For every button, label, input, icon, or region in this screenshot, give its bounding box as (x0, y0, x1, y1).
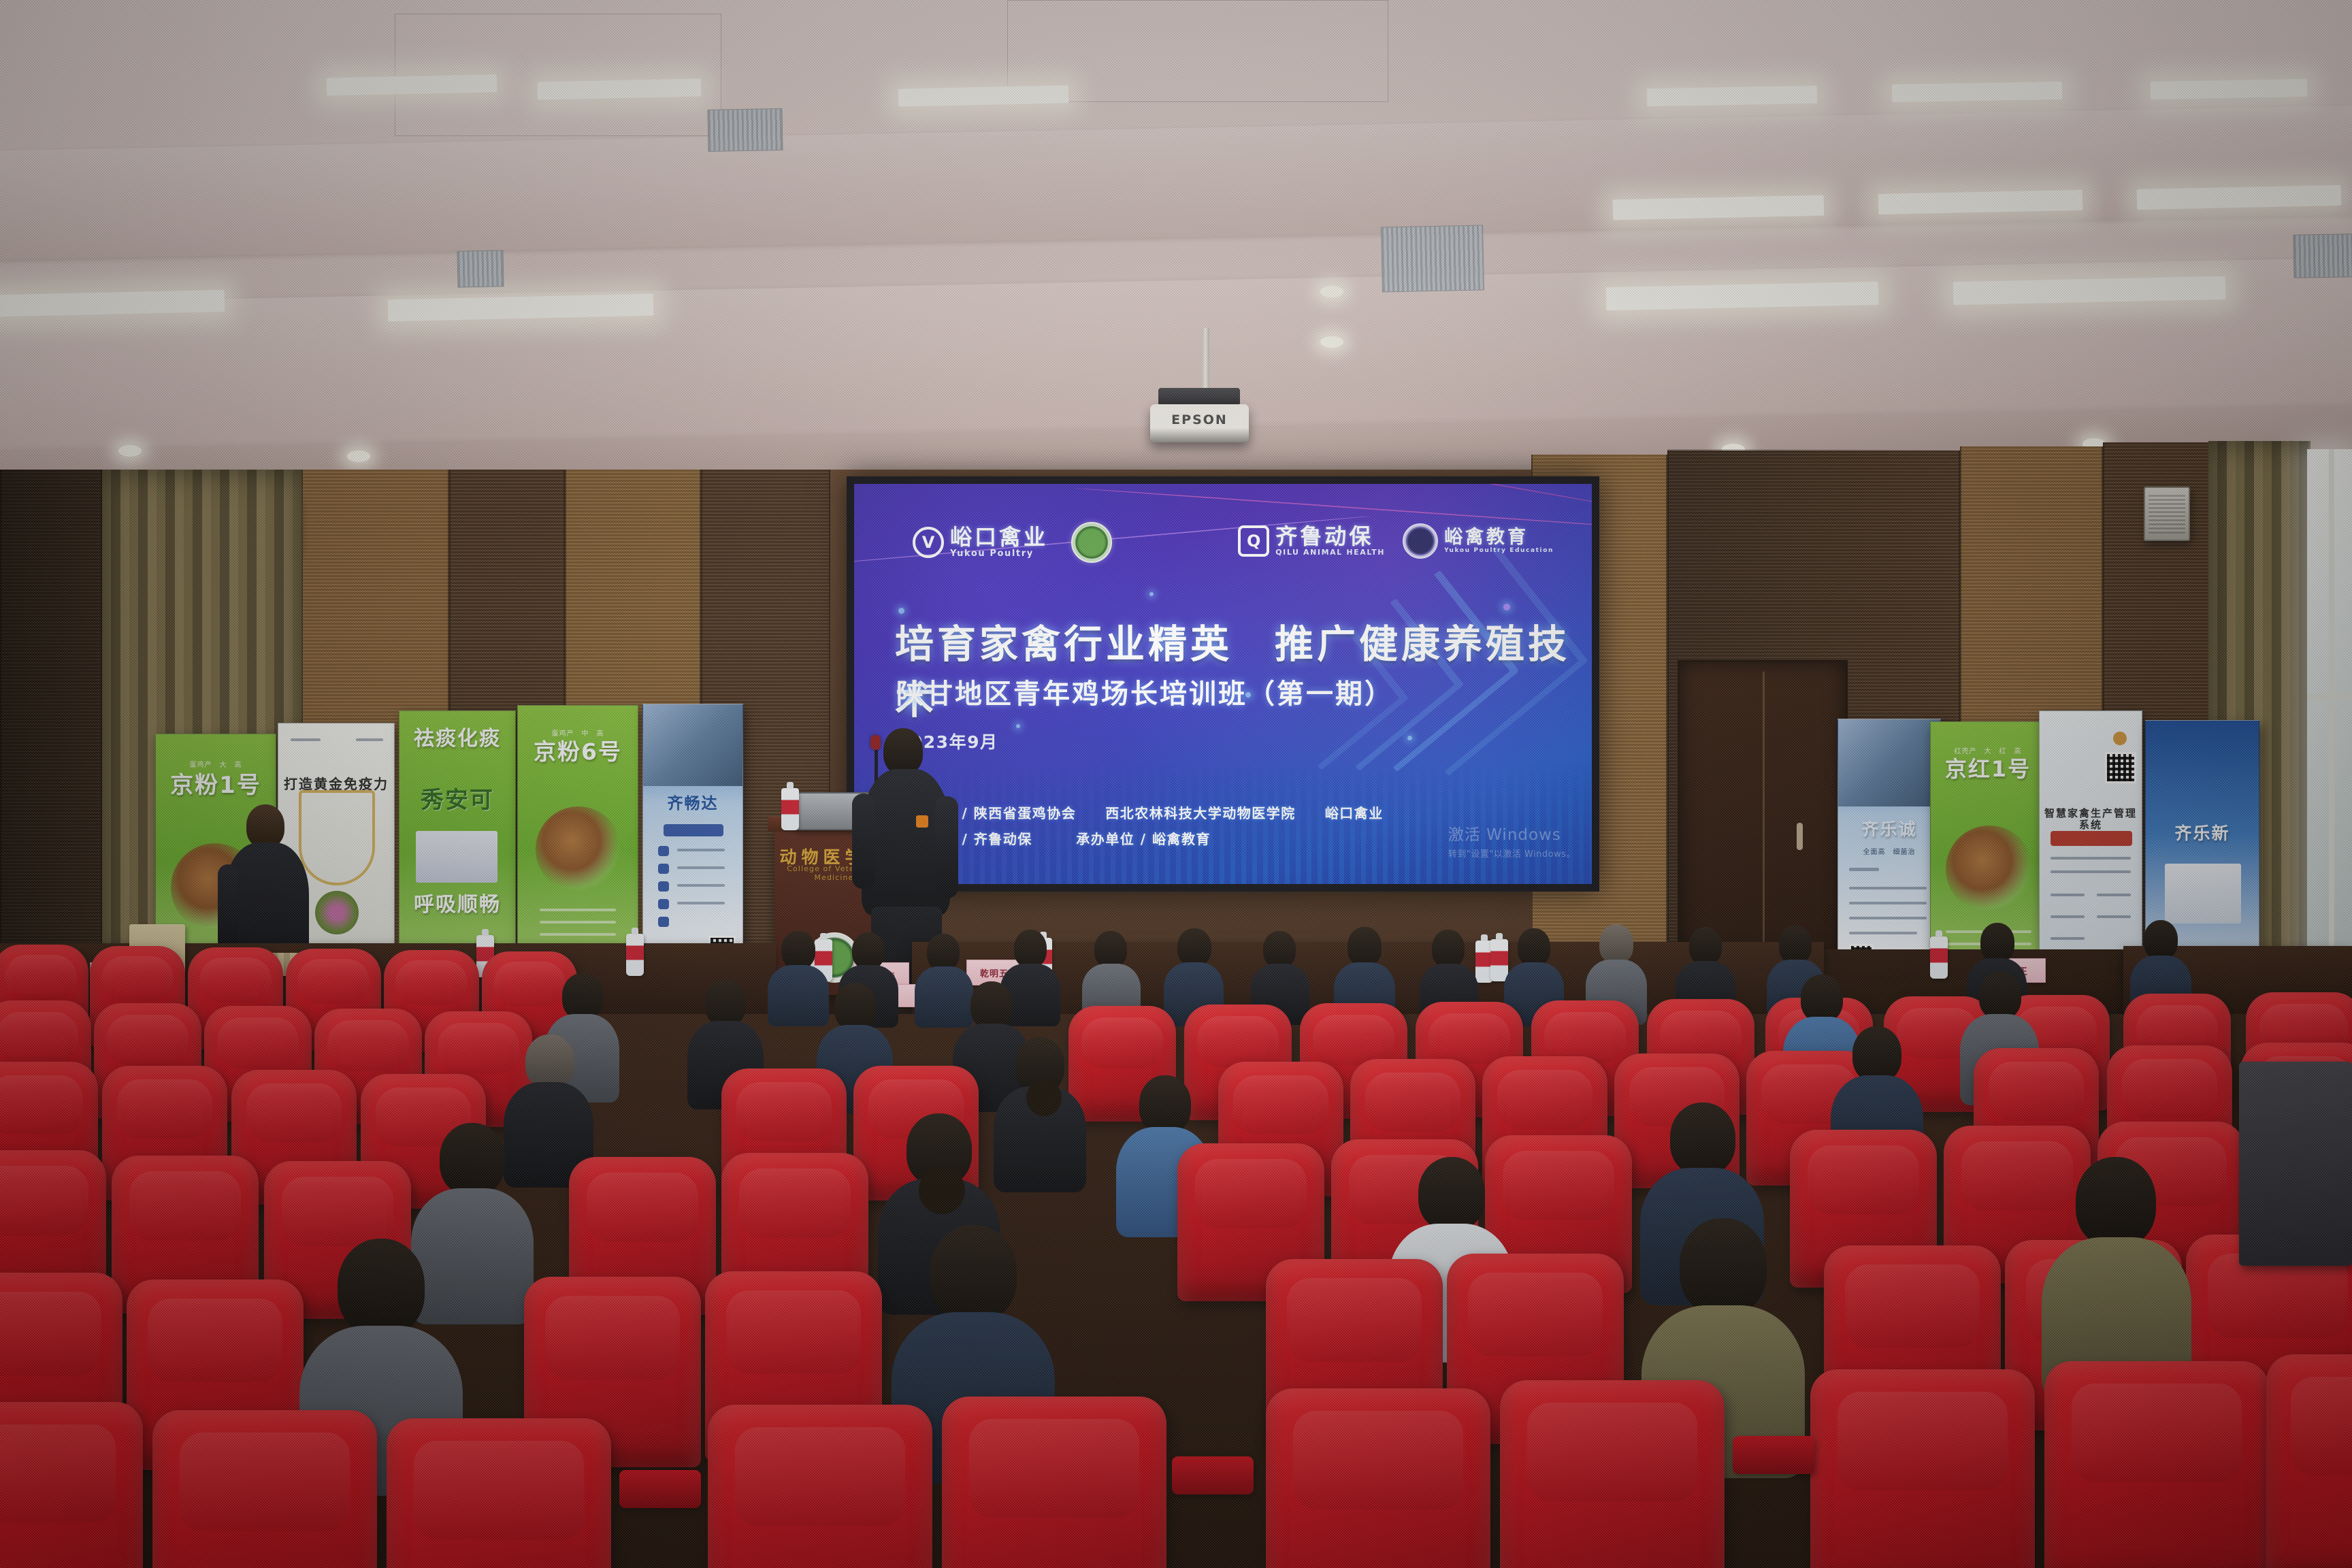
slide-subtitle: 陕甘地区青年鸡场长培训班（第一期） (896, 672, 1394, 711)
yukou-education-seal-icon (1403, 523, 1438, 559)
banner-title: 齐乐新 (2146, 824, 2259, 843)
watermark-line-1: 激活 Windows (1448, 821, 1575, 845)
seat-armrest (1733, 1436, 1814, 1474)
logo-label-en: Yukou Poultry Education (1444, 547, 1554, 554)
auditorium-seat[interactable] (708, 1405, 932, 1568)
audience-head (1670, 1102, 1735, 1175)
logo-yukou-education: 峪禽教育 Yukou Poultry Education (1403, 523, 1554, 559)
slide-logo-row-right: Q 齐鲁动保 QILU ANIMAL HEALTH 峪禽教育 Yukou Pou… (1238, 523, 1554, 559)
audience-head (562, 973, 603, 1019)
qilu-mark-icon: Q (1238, 525, 1269, 557)
audience-member (2042, 1157, 2191, 1388)
banner-ribbon (2051, 831, 2132, 846)
banner-title: 智慧家禽生产管理系统 (2040, 808, 2142, 831)
logo-label-en: QILU ANIMAL HEALTH (1275, 548, 1385, 557)
staff-head (246, 804, 284, 848)
banner-title: 齐乐诚 (1838, 820, 1940, 839)
auditorium-seat[interactable] (387, 1418, 611, 1568)
watermark-line-2: 转到"设置"以激活 Windows。 (1448, 847, 1575, 860)
audience-member (994, 1037, 1086, 1184)
audience-head (2144, 920, 2178, 960)
water-bottle[interactable] (626, 934, 644, 976)
banner-text-line (2097, 915, 2131, 918)
ceiling-light-panel (898, 85, 1068, 106)
banner-badge (658, 917, 669, 927)
audience-head (2076, 1157, 2156, 1247)
door-seam (1763, 672, 1765, 962)
audience-head (1689, 927, 1722, 965)
ac-vent (707, 108, 783, 152)
banner-badge (658, 846, 669, 856)
particle-dot (1149, 592, 1154, 596)
auditorium-seat[interactable] (2044, 1361, 2269, 1568)
projector-mount-pole (1202, 328, 1209, 393)
auditorium-seat[interactable] (1266, 1388, 1490, 1568)
banner-text-line (2051, 857, 2131, 860)
banner-title-3: 呼吸顺畅 (399, 894, 515, 917)
banner-subtitle: 全面高 细菌治 (1838, 846, 1940, 856)
auditorium-seat[interactable] (942, 1396, 1166, 1568)
banner-title: 京粉6号 (518, 740, 638, 765)
audience-head (1418, 1157, 1485, 1230)
audience-head (1979, 972, 2021, 1019)
audience-head (1680, 1218, 1767, 1315)
ceiling-downlight (347, 451, 370, 462)
ceiling-band-upper (0, 105, 2352, 260)
audience-head (1852, 1026, 1901, 1082)
banner-qichangda: 齐畅达 (642, 704, 743, 970)
audience-head (930, 1225, 1017, 1322)
logo-label-cn: 峪禽教育 (1444, 528, 1554, 547)
ceiling-light-panel (2137, 185, 2342, 210)
logo-qilu-animal-health: Q 齐鲁动保 QILU ANIMAL HEALTH (1238, 525, 1385, 557)
ceiling-downlight (1320, 336, 1343, 348)
ceiling-light-panel (1647, 86, 1817, 106)
hair-bun (1026, 1079, 1062, 1116)
ceiling-light-panel (2151, 79, 2307, 99)
ceiling-light-panel (327, 74, 497, 95)
flower-illustration (315, 891, 359, 934)
banner-subtitle: 蛋鸡产 中 高 (518, 728, 638, 738)
banner-product-card (2165, 864, 2241, 924)
banner-text-line (1849, 868, 1879, 871)
banner-badge (658, 881, 669, 892)
banner-title: 京红1号 (1931, 757, 2045, 782)
banner-title-2: 秀安可 (399, 787, 515, 813)
wall-speaker-right (2144, 487, 2190, 541)
logo-yukou-poultry: V 峪口禽业 Yukou Poultry (913, 526, 1048, 559)
audience-head (1139, 1075, 1191, 1134)
logo-label-en: Yukou Poultry (950, 549, 1048, 559)
water-bottle[interactable] (1930, 936, 1948, 979)
door-handle[interactable] (1797, 823, 1803, 850)
audience-head (1779, 926, 1812, 964)
presenter-head (883, 728, 923, 774)
banner-text-line (291, 738, 321, 741)
banner-title: 京粉1号 (156, 772, 276, 798)
banner-text-line (2051, 915, 2085, 918)
ac-vent (2293, 233, 2352, 278)
auditorium-seat[interactable] (2266, 1354, 2352, 1568)
qr-code (2105, 752, 2136, 783)
audience-head (1599, 924, 1633, 964)
banner-title: 齐畅达 (643, 796, 742, 813)
banner-badge (658, 864, 669, 874)
windows-activation-watermark: 激活 Windows 转到"设置"以激活 Windows。 (1448, 821, 1575, 860)
staff-arm (218, 864, 238, 951)
audience-head (1014, 930, 1047, 968)
auditorium-seat[interactable] (152, 1410, 377, 1568)
auditorium-seat[interactable] (1810, 1369, 2035, 1568)
audience-head (525, 1034, 574, 1089)
ac-vent (457, 250, 504, 287)
banner-text-line (1849, 902, 1927, 904)
audience-head (927, 934, 960, 970)
presenter-arm (935, 796, 958, 898)
slide-logo-row-left: V 峪口禽业 Yukou Poultry (913, 522, 1112, 563)
banner-text-line (540, 921, 616, 924)
banner-text-line (2051, 937, 2085, 940)
auditorium-seat[interactable] (1500, 1380, 1725, 1568)
banner-jingfen-6: 蛋鸡产 中 高 京粉6号 (517, 705, 638, 970)
banner-text-line (677, 866, 725, 869)
auditorium-photo: EPSON V 峪口禽业 (0, 0, 2352, 1568)
banner-badge (658, 899, 669, 909)
projector: EPSON (1150, 404, 1249, 442)
audience-head (781, 931, 815, 969)
wave-decoration (1167, 484, 1592, 511)
ceiling-light-panel (1892, 82, 2062, 102)
audience-head (1347, 927, 1382, 966)
audience-head (852, 932, 885, 969)
audience-head (1980, 923, 2014, 962)
banner-subtitle: 蛋鸡产 大 高 (156, 759, 276, 769)
audience-head (1177, 928, 1211, 966)
audience-head (440, 1123, 505, 1195)
banner-product-card (416, 831, 497, 883)
ceiling-light-panel (1878, 190, 2083, 214)
seat-armrest (1172, 1456, 1254, 1494)
projector-bracket (1158, 388, 1240, 406)
brand-dot-icon (2113, 732, 2127, 745)
audience-head (1801, 975, 1843, 1022)
yukou-v-icon: V (913, 527, 944, 558)
water-bottle[interactable] (781, 788, 799, 830)
seat-armrest (619, 1470, 701, 1508)
presenter-arm (852, 794, 875, 889)
banner-photo (643, 704, 743, 786)
banner-text-line (2051, 870, 2131, 873)
audience-head (1094, 931, 1127, 968)
banner-text-line (1849, 932, 1917, 934)
window-mullion (2329, 449, 2334, 966)
audience-head (1263, 931, 1296, 968)
ceiling-light-panel (538, 78, 701, 99)
auditorium-seat[interactable] (0, 1402, 143, 1568)
audience-head (970, 981, 1013, 1029)
banner-text-line (1849, 887, 1927, 889)
banner-text-line (2097, 894, 2131, 896)
banner-text-line (677, 884, 725, 887)
banner-text-line (356, 738, 383, 741)
wall-mounted-seat-panel (2239, 1062, 2352, 1266)
banner-title: 祛痰化痰 (399, 728, 515, 751)
banner-text-line (677, 902, 725, 904)
banner-text-line (540, 909, 616, 911)
ceiling-downlight (1320, 286, 1343, 297)
audience-head (705, 980, 746, 1026)
banner-text-line (677, 849, 725, 851)
audience-head (834, 983, 877, 1030)
banner-badge (664, 824, 723, 836)
banner-photo (1838, 719, 1941, 806)
banner-text-line (1849, 917, 1927, 919)
audience-head (1432, 930, 1465, 968)
banner-qutan-huatan: 祛痰化痰 秀安可 呼吸顺畅 (399, 710, 516, 969)
logo-label-cn: 峪口禽业 (950, 526, 1048, 549)
hair-bun (919, 1166, 965, 1214)
chicken-illustration (1946, 826, 2033, 913)
banner-qilecheng: 齐乐诚 全面高 细菌治 (1837, 719, 1941, 969)
university-seal-icon (1071, 522, 1112, 563)
projector-brand-label: EPSON (1150, 412, 1249, 427)
banner-text-line (540, 933, 616, 936)
audience-head (338, 1239, 425, 1335)
ceiling-downlight (118, 445, 142, 457)
chicken-illustration (536, 806, 621, 892)
logo-label-cn: 齐鲁动保 (1275, 525, 1385, 548)
banner-smart-poultry-system: 智慧家禽生产管理系统 (2039, 710, 2142, 968)
banner-subtitle: 红壳产 大 红 高 (1931, 745, 2045, 755)
banner-text-line (2051, 894, 2085, 896)
presenter-badge-icon (916, 815, 928, 828)
audience-head (1518, 928, 1550, 966)
ac-vent (1381, 225, 1484, 292)
